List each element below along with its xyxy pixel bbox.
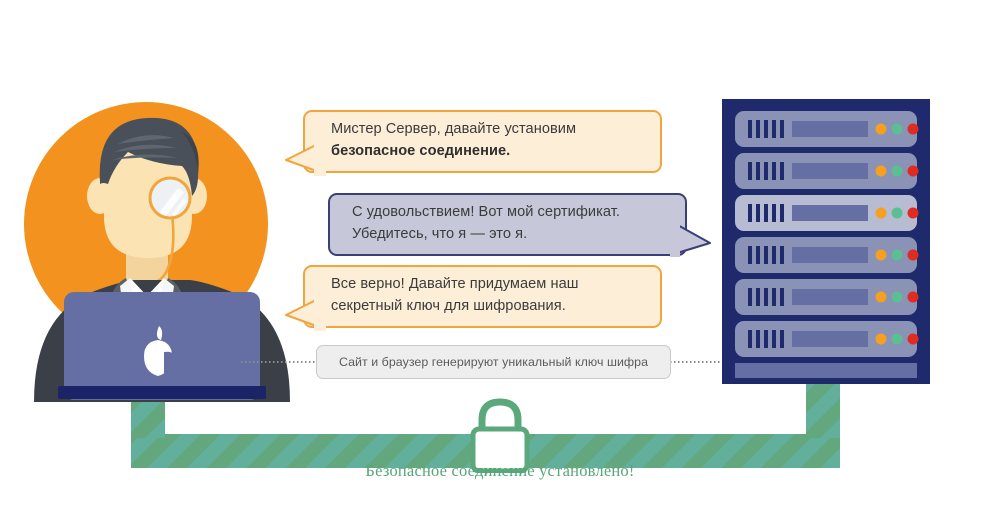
led-red [908, 292, 919, 303]
connector-line-client-to-note [241, 361, 317, 363]
led-orange [876, 208, 887, 219]
connection-stem-client [131, 396, 165, 438]
key-generation-note: Сайт и браузер генерируют уникальный клю… [316, 345, 671, 379]
led-green [892, 292, 903, 303]
led-red [908, 250, 919, 261]
connection-stem-server [806, 380, 840, 438]
bubble-3-line-2: секретный ключ для шифрования. [331, 298, 566, 314]
led-green [892, 334, 903, 345]
laptop-base [58, 386, 266, 399]
server-unit [735, 279, 919, 315]
led-orange [876, 124, 887, 135]
speech-bubble-client-key-exchange-tail [284, 295, 324, 331]
led-red [908, 208, 919, 219]
speech-bubble-client-key-exchange: Все верно! Давайте придумаем наш секретн… [303, 265, 662, 328]
footer-caption: Безопасное соединение установлено! [0, 461, 1000, 481]
bubble-2-line-2: Убедитесь, что я — это я. [352, 226, 527, 242]
speech-bubble-server-certificate-tail [672, 221, 712, 257]
server-unit [735, 237, 919, 273]
led-green [892, 166, 903, 177]
led-orange [876, 166, 887, 177]
connector-line-note-to-server [670, 361, 726, 363]
speech-bubble-client-hello-tail [284, 140, 324, 176]
led-green [892, 208, 903, 219]
server-rack [722, 99, 930, 384]
led-orange [876, 250, 887, 261]
led-orange [876, 334, 887, 345]
server-unit [735, 153, 919, 189]
bubble-1-line-2: безопасное соединение. [331, 143, 510, 159]
led-red [908, 124, 919, 135]
key-generation-note-text: Сайт и браузер генерируют уникальный клю… [339, 355, 648, 369]
led-orange [876, 292, 887, 303]
bubble-1-line-1: Мистер Сервер, давайте установим [331, 121, 576, 137]
infographic-canvas: Мистер Сервер, давайте установим безопас… [0, 0, 1000, 523]
led-green [892, 250, 903, 261]
server-unit-highlighted [735, 195, 919, 231]
led-red [908, 334, 919, 345]
server-unit [735, 321, 919, 357]
client-character [22, 86, 302, 402]
server-unit [735, 111, 919, 147]
bubble-2-line-1: С удовольствием! Вот мой сертификат. [352, 204, 620, 220]
led-green [892, 124, 903, 135]
server-rack-base-panel [735, 363, 917, 378]
speech-bubble-client-hello: Мистер Сервер, давайте установим безопас… [303, 110, 662, 173]
speech-bubble-server-certificate: С удовольствием! Вот мой сертификат. Убе… [328, 193, 687, 256]
led-red [908, 166, 919, 177]
bubble-3-line-1: Все верно! Давайте придумаем наш [331, 276, 579, 292]
